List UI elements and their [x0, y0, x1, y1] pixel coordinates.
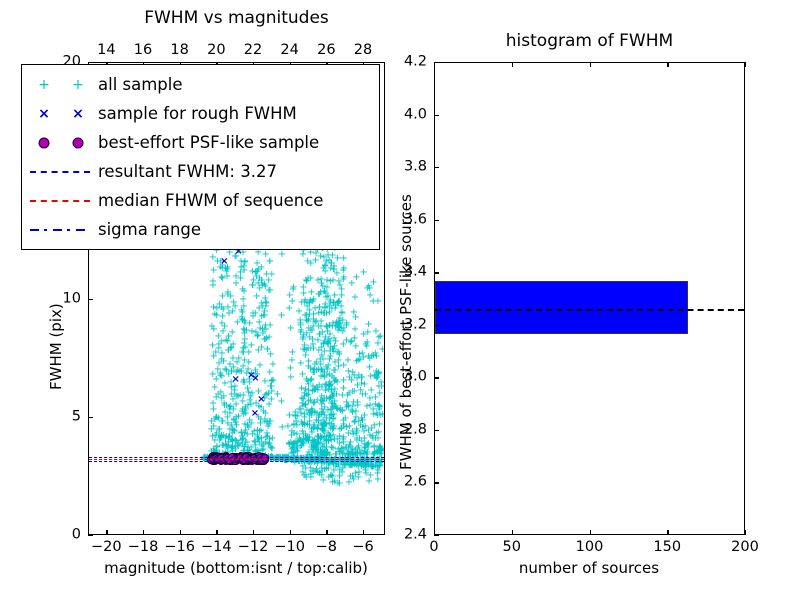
- right-ytick-label: 2.4: [404, 528, 427, 543]
- scatter-point-all-sample: +: [240, 287, 248, 297]
- scatter-point-all-sample: +: [224, 332, 232, 342]
- scatter-point-all-sample: +: [257, 426, 265, 436]
- scatter-point-all-sample: +: [352, 273, 360, 283]
- right-ytick: [434, 115, 439, 116]
- legend-label: all sample: [98, 76, 183, 93]
- right-ytick: [434, 377, 439, 378]
- scatter-point-all-sample: +: [285, 411, 293, 421]
- scatter-point-all-sample: +: [335, 472, 343, 482]
- right-ytick: [434, 430, 439, 431]
- left-xtick-label-bottom: −18: [128, 540, 159, 555]
- scatter-point-all-sample: +: [209, 277, 217, 287]
- scatter-point-all-sample: +: [218, 372, 226, 382]
- scatter-point-all-sample: +: [273, 390, 281, 400]
- scatter-point-all-sample: +: [301, 296, 309, 306]
- scatter-point-all-sample: +: [327, 435, 335, 445]
- scatter-point-all-sample: +: [222, 442, 230, 452]
- left-xtick-bottom: [363, 530, 364, 535]
- scatter-point-all-sample: +: [295, 307, 303, 317]
- scatter-point-all-sample: +: [359, 330, 367, 340]
- scatter-point-all-sample: +: [215, 300, 223, 310]
- left-yaxis-label: FWHM (pix): [48, 303, 64, 390]
- scatter-point-all-sample: +: [369, 410, 377, 420]
- scatter-point-all-sample: +: [207, 417, 215, 427]
- scatter-point-all-sample: +: [217, 355, 225, 365]
- scatter-point-all-sample: +: [266, 321, 274, 331]
- legend-item-5[interactable]: sigma range: [22, 215, 379, 244]
- sigma-range-lower-line: [89, 461, 384, 462]
- scatter-point-all-sample: +: [286, 324, 294, 334]
- scatter-point-all-sample: +: [289, 283, 297, 293]
- scatter-point-all-sample: +: [299, 331, 307, 341]
- legend-marker-dashed-icon: [22, 157, 98, 186]
- scatter-point-all-sample: +: [314, 435, 322, 445]
- scatter-point-all-sample: +: [377, 446, 384, 456]
- left-xtick-bottom: [106, 530, 107, 535]
- scatter-point-all-sample: +: [350, 308, 358, 318]
- histogram-median-line: [435, 309, 744, 311]
- scatter-point-all-sample: +: [287, 373, 295, 383]
- scatter-point-all-sample: +: [351, 293, 359, 303]
- left-xtick-bottom: [216, 530, 217, 535]
- legend-item-3[interactable]: resultant FWHM: 3.27: [22, 157, 379, 186]
- scatter-point-all-sample: +: [374, 434, 382, 444]
- right-ytick: [434, 482, 439, 483]
- right-panel-title: histogram of FWHM: [434, 33, 745, 50]
- legend-label: median FHWM of sequence: [98, 192, 323, 209]
- left-xtick-label-bottom: −14: [201, 540, 232, 555]
- scatter-point-all-sample: +: [269, 360, 277, 370]
- right-ytick: [434, 272, 439, 273]
- right-xtick: [667, 530, 668, 535]
- left-xtick-label-top: 22: [244, 43, 262, 58]
- scatter-point-all-sample: +: [265, 257, 273, 267]
- left-xaxis-label: magnitude (bottom:isnt / top:calib): [104, 560, 368, 576]
- scatter-point-all-sample: +: [303, 277, 311, 287]
- left-xtick-label-bottom: −16: [164, 540, 195, 555]
- scatter-point-all-sample: +: [339, 384, 347, 394]
- left-ytick: [88, 299, 93, 300]
- left-xtick-label-top: 16: [134, 43, 152, 58]
- scatter-point-all-sample: +: [366, 291, 374, 301]
- scatter-point-all-sample: +: [302, 375, 310, 385]
- scatter-point-all-sample: +: [320, 368, 328, 378]
- scatter-point-all-sample: +: [262, 334, 270, 344]
- scatter-point-all-sample: +: [326, 330, 334, 340]
- scatter-point-all-sample: +: [237, 306, 245, 316]
- right-ytick: [434, 167, 439, 168]
- right-xtick-top: [512, 62, 513, 67]
- scatter-point-all-sample: +: [327, 264, 335, 274]
- right-xtick-top: [590, 62, 591, 67]
- scatter-point-all-sample: +: [297, 359, 305, 369]
- left-panel-title: FWHM vs magnitudes: [88, 10, 385, 27]
- scatter-point-all-sample: +: [236, 391, 244, 401]
- scatter-point-all-sample: +: [329, 392, 337, 402]
- right-ytick: [434, 220, 439, 221]
- right-ytick: [434, 62, 439, 63]
- scatter-point-all-sample: +: [351, 325, 359, 335]
- scatter-point-all-sample: +: [264, 276, 272, 286]
- right-xtick-label: 150: [653, 540, 681, 555]
- left-xtick-label-bottom: −12: [238, 540, 269, 555]
- right-xtick-label: 100: [576, 540, 604, 555]
- scatter-point-all-sample: +: [334, 445, 342, 455]
- right-xtick: [745, 530, 746, 535]
- scatter-point-all-sample: +: [342, 423, 350, 433]
- scatter-point-all-sample: +: [220, 392, 228, 402]
- scatter-point-all-sample: +: [242, 405, 250, 415]
- scatter-point-all-sample: +: [209, 352, 217, 362]
- scatter-point-all-sample: +: [288, 443, 296, 453]
- scatter-point-all-sample: +: [350, 418, 358, 428]
- scatter-point-all-sample: +: [288, 297, 296, 307]
- scatter-point-all-sample: +: [353, 381, 361, 391]
- left-xtick-label-top: 14: [97, 43, 115, 58]
- scatter-point-all-sample: +: [330, 366, 338, 376]
- histogram-axes: [434, 62, 745, 535]
- scatter-point-all-sample: +: [225, 432, 233, 442]
- scatter-point-all-sample: +: [359, 268, 367, 278]
- scatter-point-all-sample: +: [353, 401, 361, 411]
- right-yaxis-label: FWHM of best-effort PSF-like sources: [398, 194, 414, 470]
- median-fwhm-line: [89, 459, 384, 460]
- scatter-point-all-sample: +: [299, 250, 307, 260]
- scatter-point-all-sample: +: [336, 320, 344, 330]
- legend-marker-x-icon: ××: [22, 99, 98, 128]
- scatter-point-all-sample: +: [318, 396, 326, 406]
- histogram-bar: [435, 281, 688, 334]
- right-ytick-label: 3.8: [404, 160, 427, 175]
- scatter-point-all-sample: +: [371, 349, 379, 359]
- left-xtick-label-bottom: −10: [274, 540, 305, 555]
- scatter-point-all-sample: +: [263, 345, 271, 355]
- left-xtick-label-bottom: −6: [352, 540, 373, 555]
- scatter-point-all-sample: +: [302, 311, 310, 321]
- right-xtick-label: 0: [429, 540, 438, 555]
- scatter-point-all-sample: +: [312, 416, 320, 426]
- scatter-point-all-sample: +: [367, 386, 375, 396]
- scatter-point-all-sample: +: [239, 344, 247, 354]
- scatter-point-all-sample: +: [257, 263, 265, 273]
- scatter-point-all-sample: +: [337, 285, 345, 295]
- scatter-point-all-sample: +: [265, 435, 273, 445]
- scatter-point-all-sample: +: [218, 417, 226, 427]
- scatter-point-all-sample: +: [359, 353, 367, 363]
- legend-label: resultant FWHM: 3.27: [98, 163, 277, 180]
- scatter-point-all-sample: +: [255, 274, 263, 284]
- scatter-point-all-sample: +: [286, 364, 294, 374]
- legend-marker-dot-icon: [22, 128, 98, 157]
- scatter-point-all-sample: +: [355, 468, 363, 478]
- left-ytick-label: 0: [72, 528, 81, 543]
- legend-label: sigma range: [98, 221, 201, 238]
- scatter-point-all-sample: +: [288, 348, 296, 358]
- left-ytick: [88, 417, 93, 418]
- sigma-range-upper-line: [89, 457, 384, 458]
- left-xtick-label-top: 18: [170, 43, 188, 58]
- scatter-point-rough-fwhm: ×: [251, 409, 259, 419]
- left-xtick-bottom: [143, 530, 144, 535]
- left-xtick-bottom: [290, 530, 291, 535]
- legend-label: best-effort PSF-like sample: [98, 134, 319, 151]
- figure-canvas: FWHM vs magnitudes +++++++++++++++++++++…: [0, 0, 800, 600]
- left-xtick-label-bottom: −20: [91, 540, 122, 555]
- scatter-point-all-sample: +: [245, 358, 253, 368]
- right-ytick: [434, 325, 439, 326]
- left-xtick-label-top: 20: [207, 43, 225, 58]
- scatter-point-rough-fwhm: ×: [257, 395, 265, 405]
- scatter-point-all-sample: +: [374, 297, 382, 307]
- legend-item-2[interactable]: best-effort PSF-like sample: [22, 128, 379, 157]
- left-ytick-label: 10: [63, 291, 81, 306]
- scatter-point-rough-fwhm: ×: [231, 375, 239, 385]
- scatter-point-all-sample: +: [300, 439, 308, 449]
- right-ytick-label: 4.2: [404, 55, 427, 70]
- legend-item-4[interactable]: median FHWM of sequence: [22, 186, 379, 215]
- right-xtick-top: [745, 62, 746, 67]
- scatter-point-rough-fwhm: ×: [251, 374, 259, 384]
- left-xtick-bottom: [253, 530, 254, 535]
- scatter-point-all-sample: +: [227, 292, 235, 302]
- scatter-point-all-sample: +: [375, 369, 383, 379]
- left-xtick-label-top: 28: [354, 43, 372, 58]
- scatter-point-all-sample: +: [300, 471, 308, 481]
- scatter-point-all-sample: +: [363, 342, 371, 352]
- scatter-point-all-sample: +: [376, 332, 384, 342]
- scatter-point-all-sample: +: [259, 302, 267, 312]
- scatter-point-all-sample: +: [269, 376, 277, 386]
- left-ytick-label: 5: [72, 409, 81, 424]
- scatter-point-all-sample: +: [223, 265, 231, 275]
- scatter-point-all-sample: +: [261, 377, 269, 387]
- left-ytick: [88, 535, 93, 536]
- scatter-point-all-sample: +: [303, 390, 311, 400]
- scatter-point-all-sample: +: [319, 282, 327, 292]
- scatter-point-all-sample: +: [339, 435, 347, 445]
- scatter-point-all-sample: +: [344, 367, 352, 377]
- right-ytick-label: 2.6: [404, 475, 427, 490]
- legend-marker-dashed-icon: [22, 186, 98, 215]
- legend-marker-plus-icon: ++: [22, 70, 98, 99]
- legend-item-0[interactable]: ++all sample: [22, 70, 379, 99]
- scatter-point-all-sample: +: [326, 343, 334, 353]
- scatter-point-all-sample: +: [325, 308, 333, 318]
- scatter-point-all-sample: +: [342, 336, 350, 346]
- left-xtick-label-top: 26: [317, 43, 335, 58]
- right-xtick: [590, 530, 591, 535]
- scatter-point-all-sample: +: [338, 407, 346, 417]
- scatter-point-all-sample: +: [240, 266, 248, 276]
- right-xtick-top: [667, 62, 668, 67]
- histogram-plot-area: [435, 63, 744, 534]
- scatter-point-all-sample: +: [229, 354, 237, 364]
- right-ytick-label: 4.0: [404, 107, 427, 122]
- scatter-point-all-sample: +: [209, 399, 217, 409]
- left-xtick-bottom: [180, 530, 181, 535]
- scatter-point-all-sample: +: [335, 297, 343, 307]
- right-xtick-label: 200: [731, 540, 759, 555]
- scatter-point-all-sample: +: [227, 343, 235, 353]
- left-xtick-label-top: 24: [280, 43, 298, 58]
- scatter-point-all-sample: +: [329, 415, 337, 425]
- scatter-point-all-sample: +: [241, 319, 249, 329]
- scatter-point-all-sample: +: [240, 429, 248, 439]
- scatter-point-all-sample: +: [325, 473, 333, 483]
- scatter-point-all-sample: +: [366, 431, 374, 441]
- scatter-point-all-sample: +: [345, 478, 353, 488]
- right-ytick: [434, 535, 439, 536]
- legend-marker-dashdot-icon: [22, 215, 98, 244]
- scatter-point-all-sample: +: [232, 418, 240, 428]
- scatter-point-all-sample: +: [302, 346, 310, 356]
- scatter-point-all-sample: +: [226, 405, 234, 415]
- legend-label: sample for rough FWHM: [98, 105, 297, 122]
- scatter-point-rough-fwhm: ×: [220, 257, 228, 267]
- left-xtick-label-bottom: −8: [316, 540, 337, 555]
- scatter-point-all-sample: +: [249, 312, 257, 322]
- scatter-point-all-sample: +: [278, 250, 286, 260]
- scatter-point-all-sample: +: [284, 422, 292, 432]
- legend-item-1[interactable]: ××sample for rough FWHM: [22, 99, 379, 128]
- right-xtick-label: 50: [503, 540, 521, 555]
- scatter-point-all-sample: +: [304, 357, 312, 367]
- legend-box: ++all sample××sample for rough FWHMbest-…: [21, 64, 380, 250]
- left-xtick-bottom: [326, 530, 327, 535]
- right-xtick: [512, 530, 513, 535]
- scatter-point-all-sample: +: [373, 469, 381, 479]
- scatter-point-all-sample: +: [309, 315, 317, 325]
- right-xaxis-label: number of sources: [519, 560, 659, 576]
- scatter-point-all-sample: +: [344, 356, 352, 366]
